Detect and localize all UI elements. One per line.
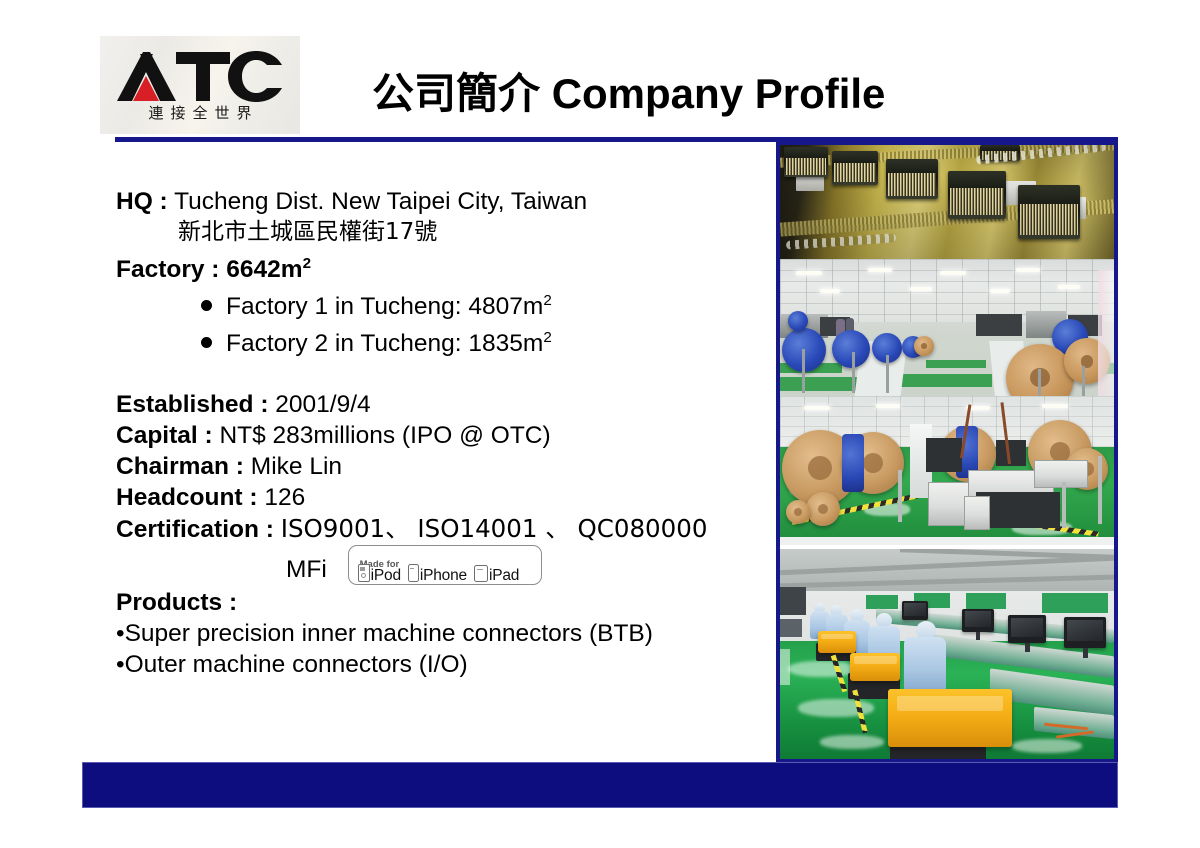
factory-1-item: Factory 1 in Tucheng: 4807m2 bbox=[116, 285, 766, 322]
photo-content bbox=[780, 396, 1114, 545]
headcount-line: Headcount : 126 bbox=[116, 482, 766, 513]
page-title-cjk: 公司簡介 bbox=[372, 69, 540, 118]
page-title-en: Company Profile bbox=[552, 70, 886, 117]
photo-gold-fpc-connectors bbox=[780, 145, 1114, 259]
capital-value: NT$ 283millions (IPO @ OTC) bbox=[219, 422, 550, 449]
chairman-label: Chairman : bbox=[116, 453, 244, 480]
factory-1-sup: 2 bbox=[543, 292, 551, 309]
factory-area-unit-sup: 2 bbox=[303, 255, 311, 272]
footer-bar bbox=[82, 762, 1118, 808]
photo-factory-floor-reels bbox=[780, 259, 1114, 396]
certification-label: Certification : bbox=[116, 516, 274, 543]
ipad-icon bbox=[474, 565, 488, 582]
factory-1-text: Factory 1 in Tucheng: 4807m bbox=[226, 293, 543, 320]
ipad-label: iPad bbox=[489, 567, 519, 584]
photo-content bbox=[780, 259, 1114, 396]
made-for-apple-badge: Made for iPodiPhoneiPad bbox=[348, 545, 542, 585]
capital-label: Capital : bbox=[116, 422, 213, 449]
headcount-label: Headcount : bbox=[116, 484, 258, 511]
factory-2-text: Factory 2 in Tucheng: 1835m bbox=[226, 330, 543, 357]
atc-logo-tagline: 連接全世界 bbox=[116, 104, 284, 122]
factory-area: 6642m bbox=[226, 256, 302, 283]
photo-content bbox=[780, 145, 1114, 259]
hq-line: HQ : Tucheng Dist. New Taipei City, Taiw… bbox=[116, 186, 766, 217]
bullet-icon bbox=[201, 300, 212, 311]
factory-2-item: Factory 2 in Tucheng: 1835m2 bbox=[116, 322, 766, 359]
established-label: Established : bbox=[116, 391, 268, 418]
slide-header: 連接全世界 公司簡介 Company Profile bbox=[0, 0, 1200, 138]
photo-content bbox=[780, 549, 1114, 759]
atc-wordmark-icon bbox=[114, 46, 286, 104]
spacer bbox=[116, 359, 766, 389]
mfi-device-row: iPodiPhoneiPad bbox=[358, 559, 520, 593]
hq-address-cjk: 新北市土城區民權街17號 bbox=[116, 217, 766, 248]
product-item-btb: •Super precision inner machine connector… bbox=[116, 618, 766, 649]
iphone-label: iPhone bbox=[420, 567, 467, 584]
factory-line: Factory : 6642m2 bbox=[116, 248, 766, 285]
chairman-line: Chairman : Mike Lin bbox=[116, 451, 766, 482]
photo-assembly-line-workers bbox=[780, 549, 1114, 759]
iphone-icon bbox=[408, 564, 419, 582]
factory-label: Factory : bbox=[116, 256, 219, 283]
bullet-icon bbox=[201, 337, 212, 348]
page-title: 公司簡介 Company Profile bbox=[372, 60, 885, 121]
company-profile-details: HQ : Tucheng Dist. New Taipei City, Taiw… bbox=[116, 186, 766, 680]
established-line: Established : 2001/9/4 bbox=[116, 389, 766, 420]
hq-label: HQ : bbox=[116, 188, 168, 215]
hq-value: Tucheng Dist. New Taipei City, Taiwan bbox=[174, 188, 587, 215]
product-item-io: •Outer machine connectors (I/O) bbox=[116, 649, 766, 680]
chairman-value: Mike Lin bbox=[251, 453, 342, 480]
established-value: 2001/9/4 bbox=[275, 391, 370, 418]
atc-logo: 連接全世界 bbox=[100, 36, 300, 134]
certification-line: Certification : ISO9001、 ISO14001 、 QC08… bbox=[116, 513, 766, 545]
factory-photo-column bbox=[776, 141, 1118, 763]
mfi-line: MFi Made for iPodiPhoneiPad bbox=[116, 545, 766, 587]
factory-2-sup: 2 bbox=[543, 329, 551, 346]
mfi-label: MFi bbox=[286, 556, 327, 583]
photo-machines-tan-reels bbox=[780, 396, 1114, 545]
ipod-label: iPod bbox=[371, 567, 401, 584]
capital-line: Capital : NT$ 283millions (IPO @ OTC) bbox=[116, 420, 766, 451]
certification-value: ISO9001、 ISO14001 、 QC080000 bbox=[281, 514, 708, 543]
headcount-value: 126 bbox=[264, 484, 305, 511]
ipod-icon bbox=[358, 564, 370, 582]
